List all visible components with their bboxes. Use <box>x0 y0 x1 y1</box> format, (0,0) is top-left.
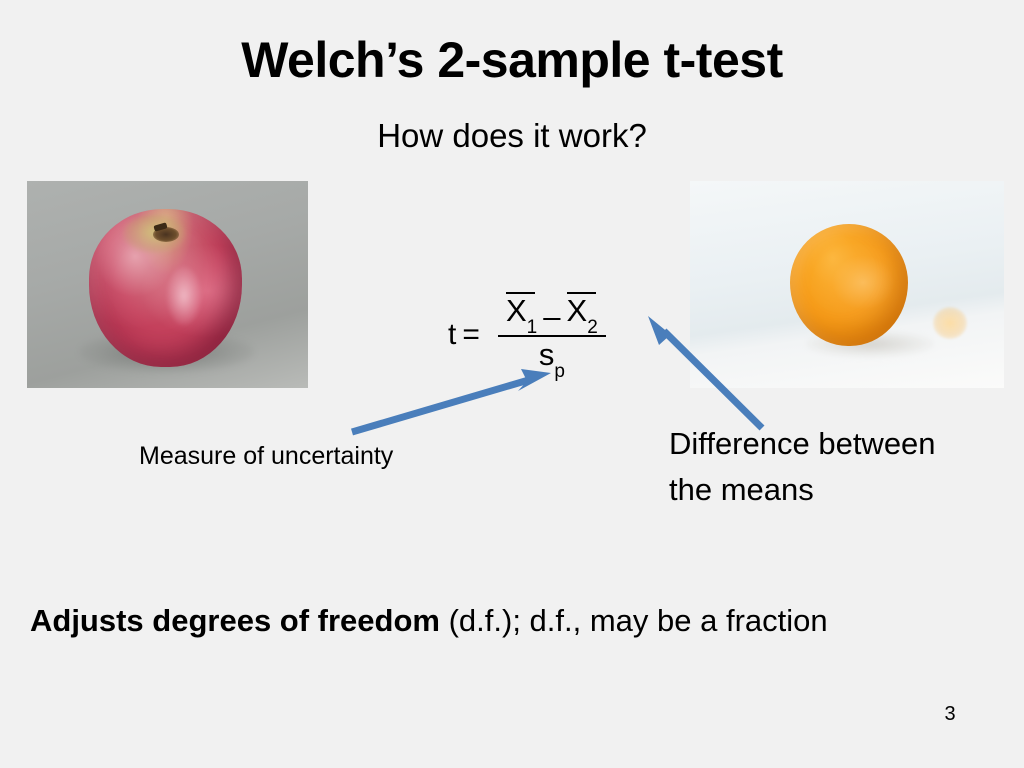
formula-numerator: X1 – X2 <box>502 292 602 334</box>
presentation-slide: Welch’s 2-sample t-test How does it work… <box>0 0 1024 768</box>
orange-fruit <box>790 224 908 346</box>
caption-difference-line1: Difference between <box>669 421 999 467</box>
bottom-note-strong: Adjusts degrees of freedom <box>30 603 440 638</box>
orange-photo <box>690 181 1004 388</box>
t-statistic-formula: t = X1 – X2 sp <box>448 292 606 378</box>
formula-lhs: t <box>448 320 456 350</box>
sp-base: s <box>539 337 555 372</box>
formula-equals-sign: = <box>462 320 480 350</box>
bottom-note: Adjusts degrees of freedom (d.f.); d.f.,… <box>30 602 1010 639</box>
formula-fraction: X1 – X2 sp <box>498 292 606 378</box>
formula-denominator: sp <box>539 339 565 378</box>
mean-x1: X1 <box>506 292 537 332</box>
orange-navel <box>933 307 967 339</box>
sp-subscript: p <box>554 361 565 382</box>
page-title: Welch’s 2-sample t-test <box>0 34 1024 87</box>
x2-base: X <box>567 293 588 328</box>
apple-photo <box>27 181 308 388</box>
arrow-to-denominator <box>352 369 551 432</box>
caption-difference-line2: the means <box>669 467 999 513</box>
bottom-note-rest: (d.f.); d.f., may be a fraction <box>440 603 828 638</box>
slide-subtitle: How does it work? <box>0 118 1024 154</box>
caption-difference-between-means: Difference between the means <box>669 421 999 513</box>
mean-x2: X2 <box>567 292 598 332</box>
caption-measure-of-uncertainty: Measure of uncertainty <box>139 442 393 471</box>
x1-base: X <box>506 293 527 328</box>
overbar-x2 <box>567 292 596 294</box>
overbar-x1 <box>506 292 535 294</box>
apple-highlight <box>167 267 201 325</box>
minus-operator: – <box>543 301 560 332</box>
slide-number: 3 <box>930 703 970 726</box>
x1-subscript: 1 <box>527 317 538 338</box>
x2-subscript: 2 <box>587 317 598 338</box>
